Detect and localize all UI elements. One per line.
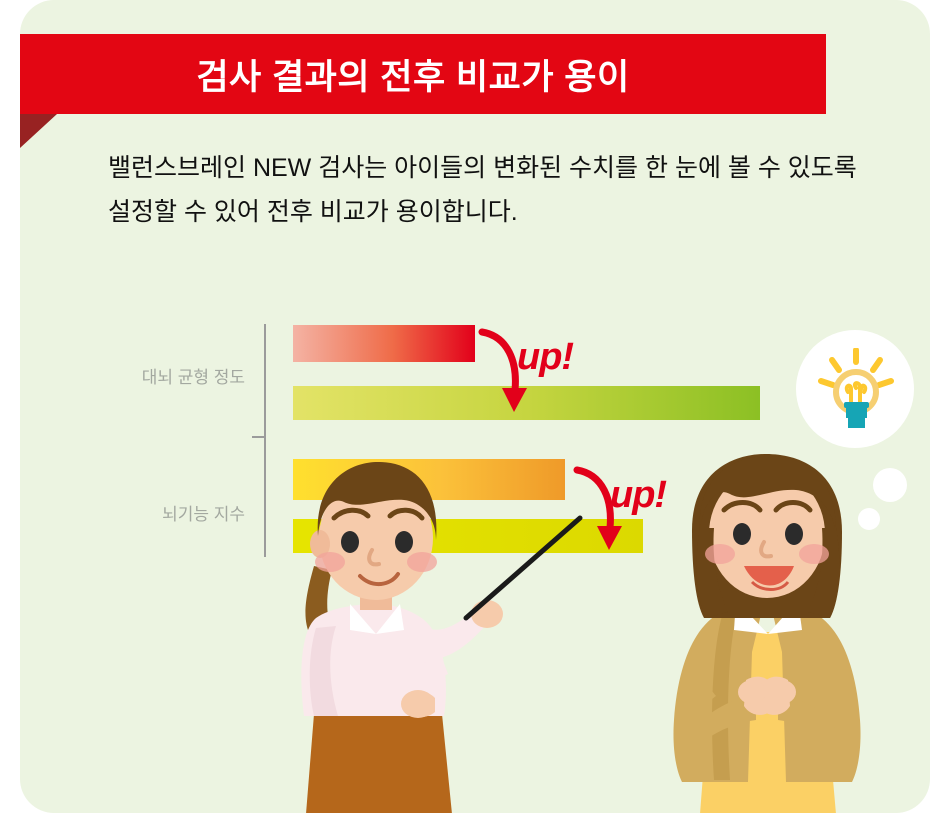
description-line-2: 설정할 수 있어 전후 비교가 용이합니다. (108, 190, 930, 234)
ribbon-banner: 검사 결과의 전후 비교가 용이 (20, 34, 826, 114)
pointer-stick-icon (460, 514, 590, 624)
chart-axis-line (264, 324, 266, 557)
description-text: 밸런스브레인 NEW 검사는 아이들의 변화된 수치를 한 눈에 볼 수 있도록… (108, 146, 930, 234)
lightbulb-icon (818, 348, 894, 434)
category-label-1: 뇌기능 지수 (50, 500, 245, 525)
ribbon-fold-shape (20, 114, 57, 148)
category-label-0: 대뇌 균형 정도 (50, 363, 245, 388)
listening-woman-illustration (652, 452, 892, 813)
bar-before-brain-balance (293, 325, 475, 362)
content-card: 대뇌 균형 정도 뇌기능 지수 up! up! (20, 0, 930, 813)
slide-canvas: 대뇌 균형 정도 뇌기능 지수 up! up! (0, 0, 951, 813)
chart-axis-tick (252, 436, 266, 438)
description-line-1: 밸런스브레인 NEW 검사는 아이들의 변화된 수치를 한 눈에 볼 수 있도록 (108, 146, 930, 190)
page-title: 검사 결과의 전후 비교가 용이 (196, 49, 629, 100)
presenter-woman-illustration (272, 458, 522, 813)
up-label-1: up! (517, 336, 573, 379)
